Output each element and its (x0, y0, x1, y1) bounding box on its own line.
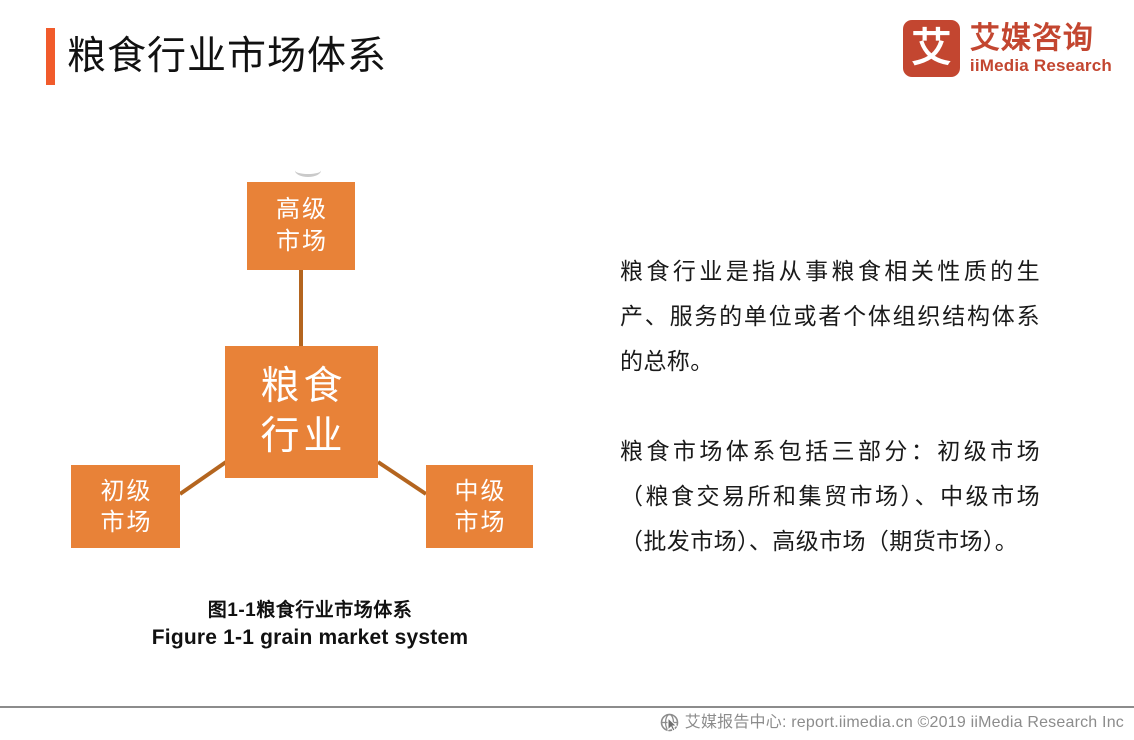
body-copy: 粮食行业是指从事粮食相关性质的生产、服务的单位或者个体组织结构体系的总称。 粮食… (620, 249, 1040, 564)
brand-logo: 艾 艾媒咨询 iiMedia Research (903, 20, 1112, 77)
title-accent-bar (46, 28, 55, 85)
node-grain-industry[interactable]: 粮食 行业 (225, 346, 378, 478)
market-system-diagram: 高级 市场 粮食 行业 初级 市场 中级 市场 (40, 150, 580, 590)
connector-right (378, 462, 426, 494)
node-advanced-market-line2: 市场 (274, 226, 328, 258)
figure-caption: 图1-1粮食行业市场体系 Figure 1-1 grain market sys… (40, 598, 580, 652)
body-paragraph-1: 粮食行业是指从事粮食相关性质的生产、服务的单位或者个体组织结构体系的总称。 (620, 249, 1040, 384)
node-advanced-market-line1: 高级 (274, 194, 328, 226)
diagram-shadow-artifact (295, 164, 321, 177)
node-primary-market-line2: 市场 (99, 507, 153, 538)
footer-divider (0, 706, 1134, 708)
connector-left (180, 462, 226, 494)
node-intermediate-market-line1: 中级 (453, 476, 507, 507)
logo-mark-icon: 艾 (903, 20, 960, 77)
node-intermediate-market[interactable]: 中级 市场 (426, 465, 533, 548)
logo-text-block: 艾媒咨询 iiMedia Research (970, 22, 1112, 76)
page-title: 粮食行业市场体系 (67, 29, 387, 85)
node-grain-industry-line1: 粮食 (256, 362, 346, 412)
globe-icon (660, 713, 680, 733)
node-advanced-market[interactable]: 高级 市场 (247, 182, 355, 270)
logo-name-cn: 艾媒咨询 (970, 22, 1112, 55)
logo-name-en: iiMedia Research (970, 55, 1112, 76)
node-grain-industry-line2: 行业 (256, 412, 346, 462)
figure-caption-cn: 图1-1粮食行业市场体系 (40, 598, 580, 624)
figure-caption-en: Figure 1-1 grain market system (40, 624, 580, 652)
footer: 艾媒报告中心: report.iimedia.cn ©2019 iiMedia … (660, 712, 1124, 734)
body-paragraph-2: 粮食市场体系包括三部分：初级市场（粮食交易所和集贸市场）、中级市场（批发市场）、… (620, 429, 1040, 564)
node-primary-market[interactable]: 初级 市场 (71, 465, 180, 548)
node-intermediate-market-line2: 市场 (453, 507, 507, 538)
footer-text: 艾媒报告中心: report.iimedia.cn ©2019 iiMedia … (685, 712, 1124, 734)
node-primary-market-line1: 初级 (99, 476, 153, 507)
